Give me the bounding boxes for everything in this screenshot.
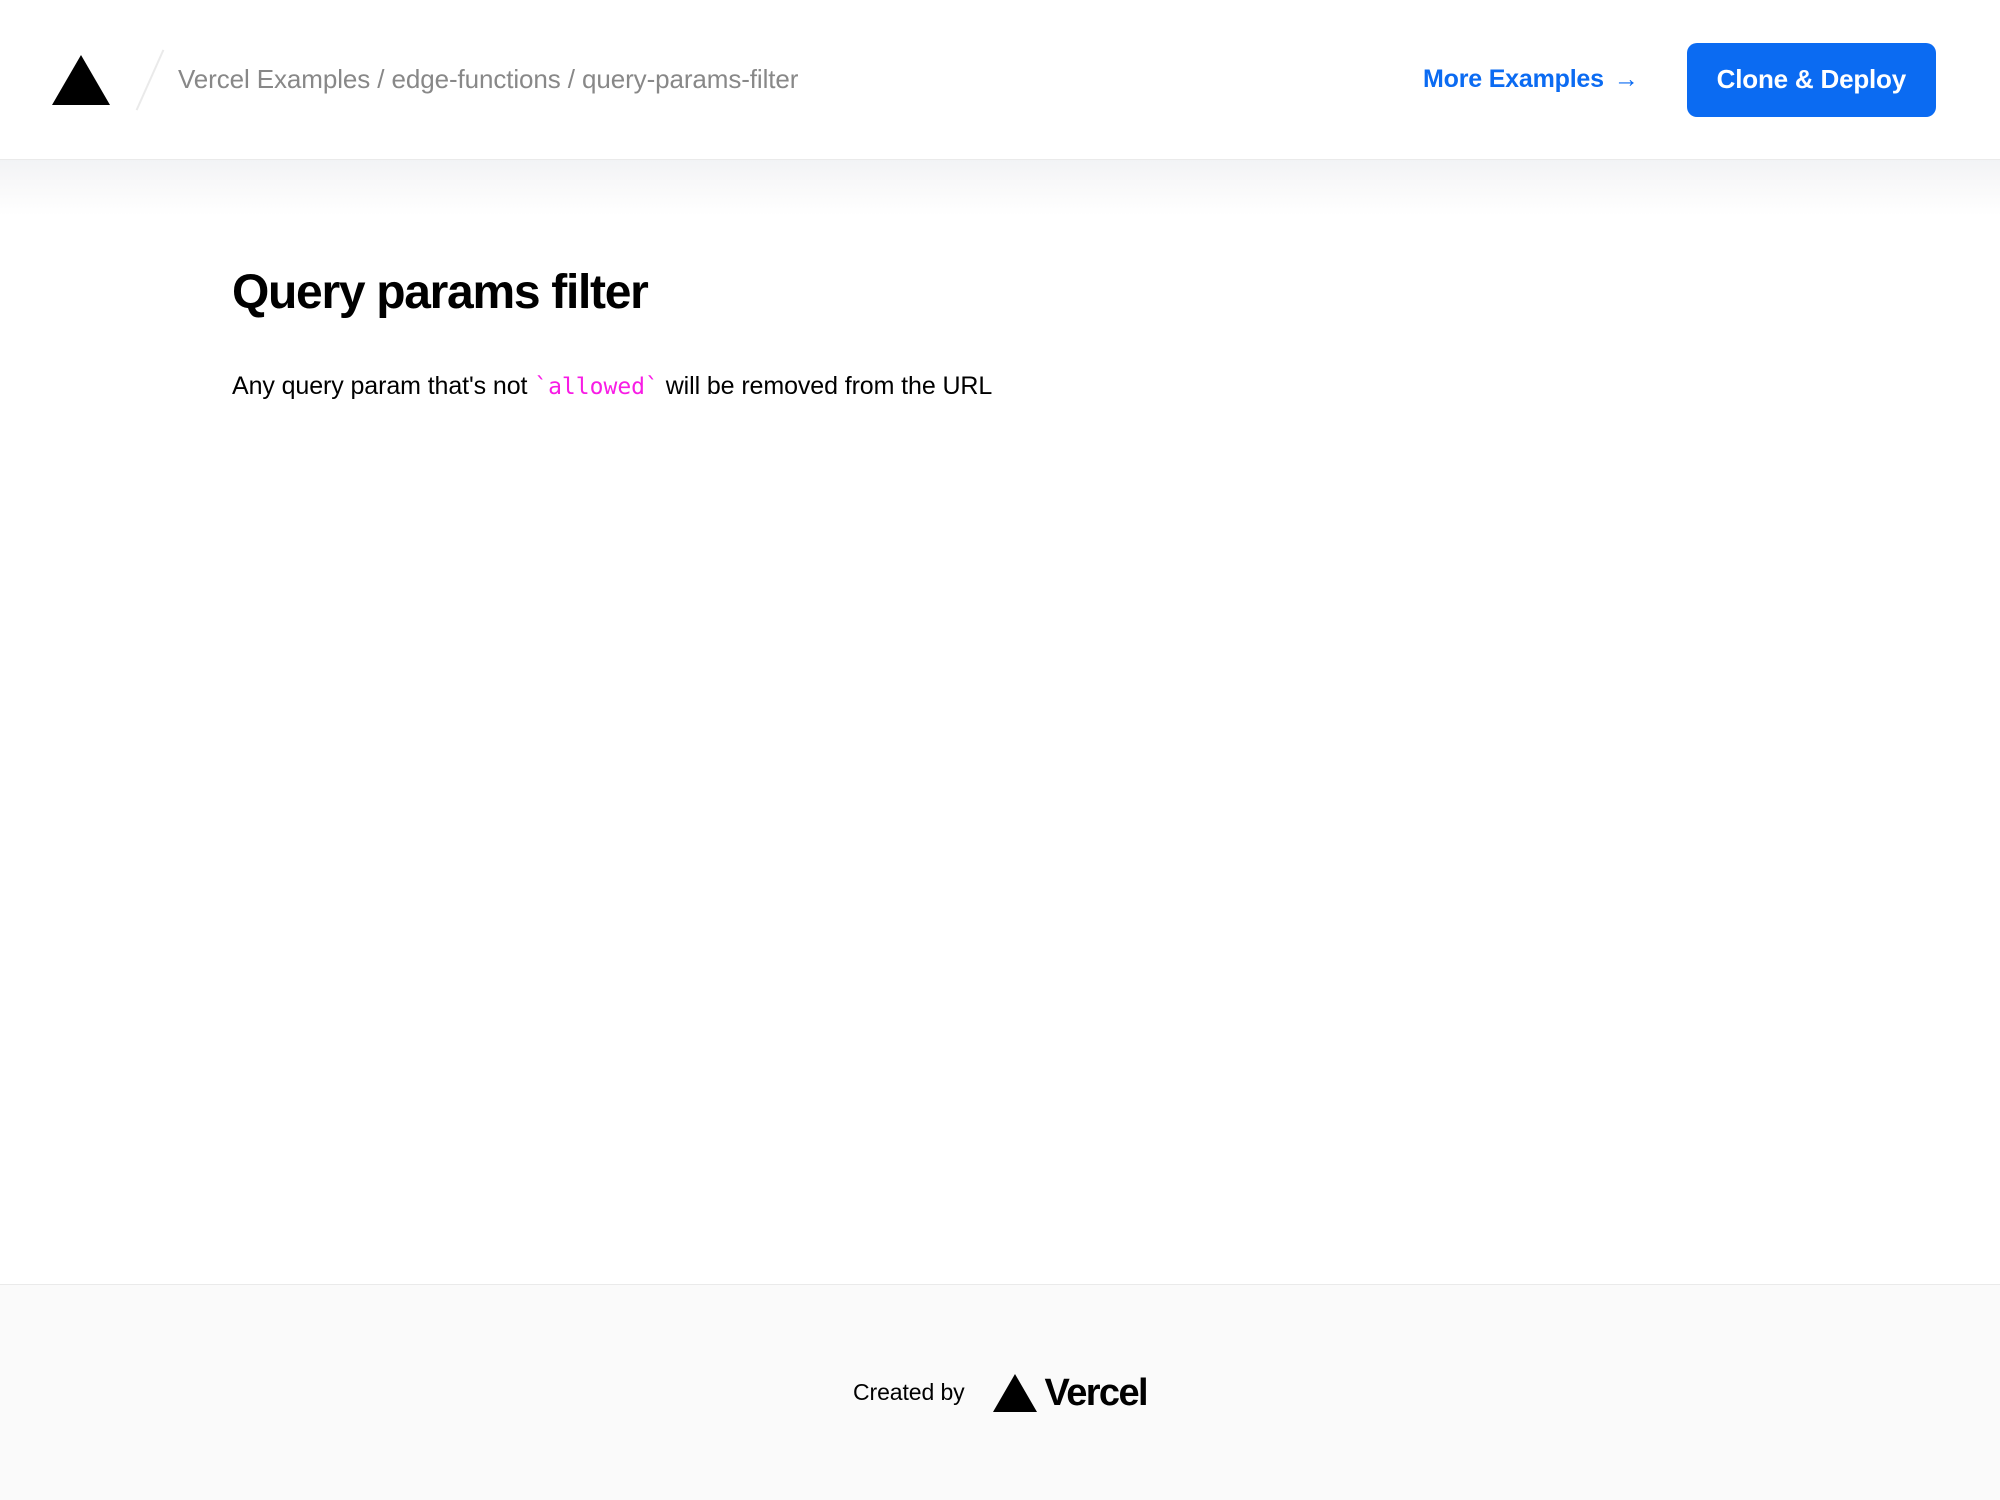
site-header: Vercel Examples / edge-functions / query… — [0, 0, 2000, 160]
page-root: Vercel Examples / edge-functions / query… — [0, 0, 2000, 1500]
vercel-triangle-icon — [52, 55, 110, 105]
more-examples-label: More Examples — [1423, 65, 1604, 94]
created-by-vercel-link[interactable]: Created by Vercel — [853, 1374, 1147, 1412]
vercel-logo-link[interactable] — [52, 55, 110, 105]
header-right-group: More Examples → Clone & Deploy — [1423, 43, 1936, 117]
created-by-label: Created by — [853, 1379, 965, 1406]
vercel-brand-name: Vercel — [1045, 1374, 1147, 1412]
clone-and-deploy-button[interactable]: Clone & Deploy — [1687, 43, 1936, 117]
page-description: Any query param that's not `allowed` wil… — [232, 368, 1936, 404]
vercel-wordmark: Vercel — [993, 1374, 1147, 1412]
description-text-after: will be removed from the URL — [659, 372, 992, 400]
site-footer: Created by Vercel — [0, 1284, 2000, 1500]
breadcrumb: Vercel Examples / edge-functions / query… — [178, 64, 798, 95]
content-container: Query params filter Any query param that… — [0, 160, 2000, 405]
page-title: Query params filter — [232, 265, 1936, 320]
slash-separator-icon — [126, 45, 172, 115]
vercel-triangle-icon — [993, 1374, 1037, 1412]
description-text-before: Any query param that's not — [232, 372, 534, 400]
main-content: Query params filter Any query param that… — [0, 160, 2000, 1284]
arrow-right-icon: → — [1614, 67, 1639, 92]
header-left-group: Vercel Examples / edge-functions / query… — [52, 45, 1423, 115]
code-allowed: `allowed` — [534, 374, 659, 400]
more-examples-link[interactable]: More Examples → — [1423, 65, 1639, 94]
